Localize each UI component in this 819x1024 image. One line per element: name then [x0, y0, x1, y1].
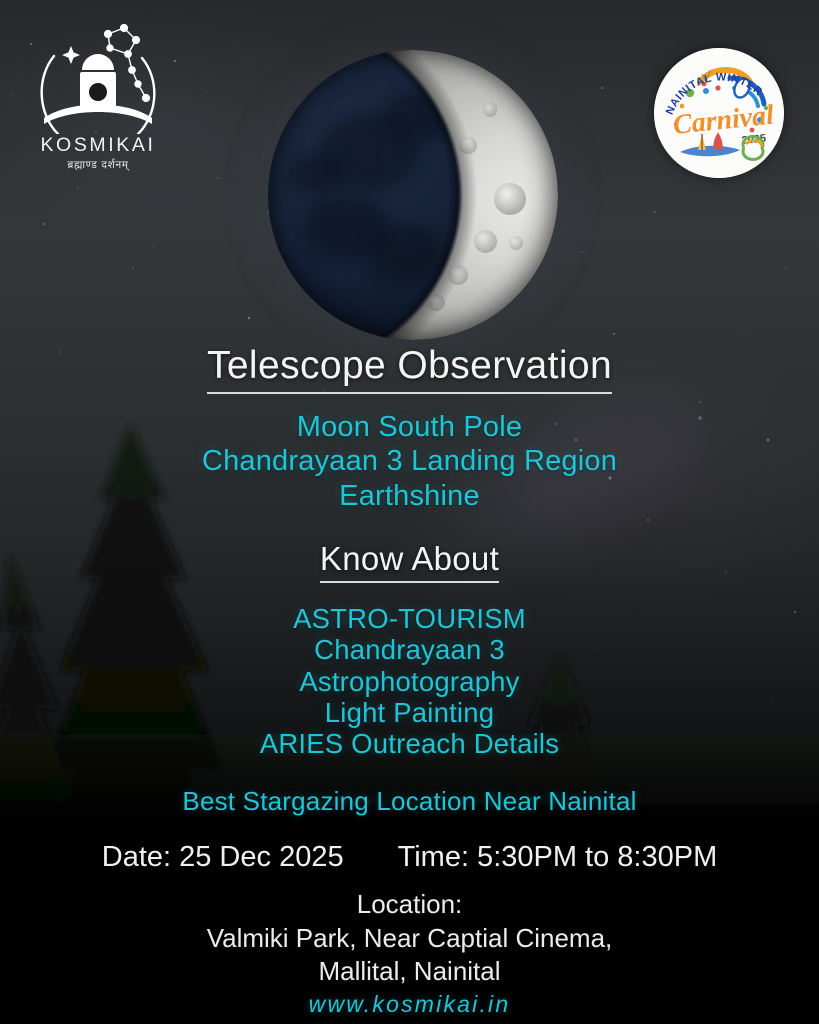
list-item: Light Painting — [0, 697, 819, 728]
crescent-moon-image — [268, 50, 558, 340]
list-item: Chandrayaan 3 — [0, 634, 819, 665]
know-about-heading: Know About — [320, 540, 499, 583]
list-item: ARIES Outreach Details — [0, 728, 819, 759]
event-date: Date: 25 Dec 2025 — [102, 841, 344, 874]
page-title: Telescope Observation — [207, 344, 612, 394]
venue-label: Location: — [0, 888, 819, 922]
list-item: Astrophotography — [0, 666, 819, 697]
kosmikai-wordmark: KOSMIKAI — [24, 134, 172, 157]
event-time: Time: 5:30PM to 8:30PM — [398, 841, 718, 874]
venue-address-line1: Valmiki Park, Near Captial Cinema, — [0, 922, 819, 956]
observation-targets-list: Moon South Pole Chandrayaan 3 Landing Re… — [0, 410, 819, 514]
website-link[interactable]: www.kosmikai.in — [0, 991, 819, 1018]
poster-text-content: Telescope Observation Moon South Pole Ch… — [0, 344, 819, 1018]
limb-shading — [268, 50, 558, 340]
event-poster: KOSMIKAI ब्रह्माण्ड दर्शनम् — [0, 0, 819, 1024]
list-item: ASTRO-TOURISM — [0, 603, 819, 634]
event-datetime: Date: 25 Dec 2025 Time: 5:30PM to 8:30PM — [0, 841, 819, 874]
kosmikai-logo: KOSMIKAI ब्रह्माण्ड दर्शनम् — [24, 22, 172, 172]
nainital-winter-carnival-logo: NAINITAL WINTER Carnival 2025 — [654, 48, 784, 178]
list-item: Chandrayaan 3 Landing Region — [0, 444, 819, 479]
know-about-list: ASTRO-TOURISM Chandrayaan 3 Astrophotogr… — [0, 603, 819, 760]
headline-wrapper: Telescope Observation — [0, 344, 819, 394]
list-item: Moon South Pole — [0, 410, 819, 445]
know-about-heading-wrapper: Know About — [0, 540, 819, 583]
list-item: Earthshine — [0, 479, 819, 514]
observatory-dome-icon — [24, 22, 172, 134]
venue-block: Location: Valmiki Park, Near Captial Cin… — [0, 888, 819, 989]
stargazing-tagline: Best Stargazing Location Near Nainital — [0, 786, 819, 817]
venue-address-line2: Mallital, Nainital — [0, 955, 819, 989]
kosmikai-sanskrit-tagline: ब्रह्माण्ड दर्शनम् — [24, 158, 172, 172]
